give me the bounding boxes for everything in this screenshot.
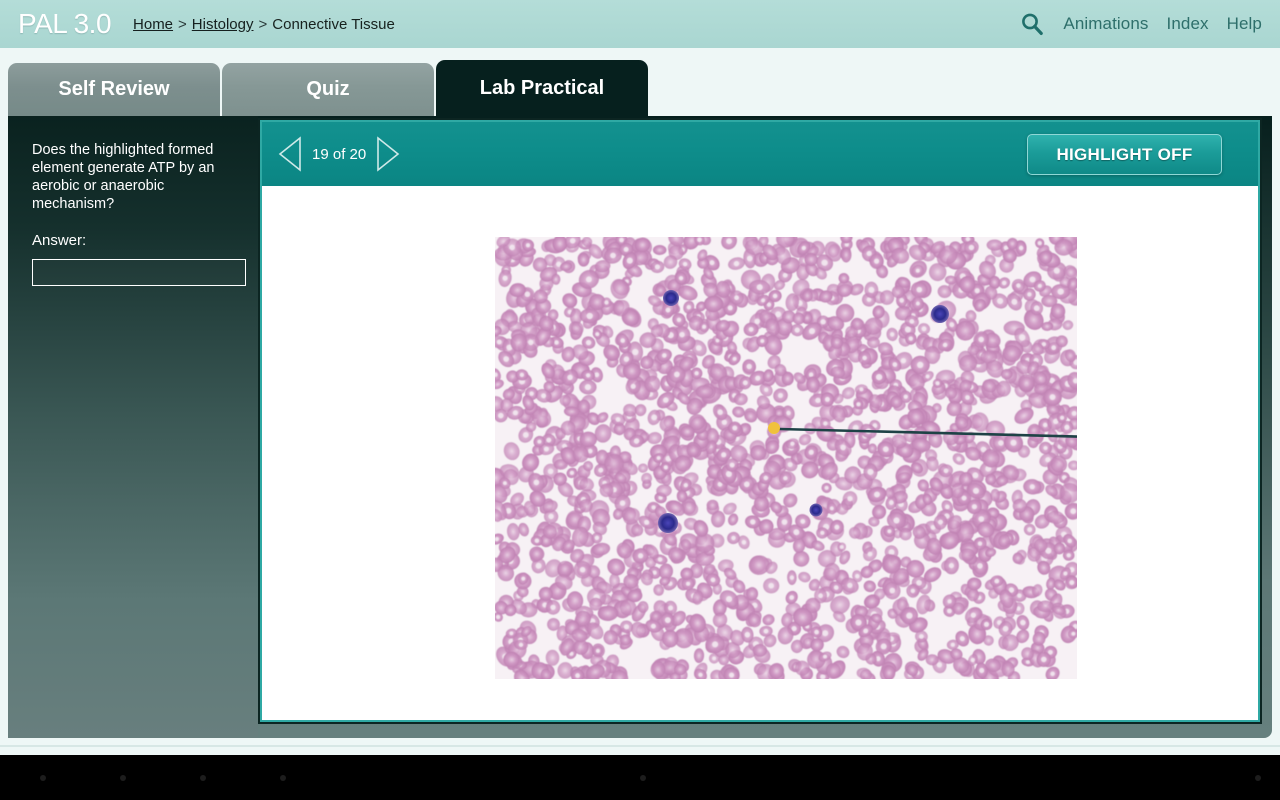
highlight-toggle-label: HIGHLIGHT OFF: [1056, 145, 1192, 165]
tab-self-review-label: Self Review: [58, 78, 169, 101]
application-root: PAL 3.0 Home > Histology > Connective Ti…: [0, 0, 1280, 800]
taskbar-dot-1[interactable]: [40, 775, 46, 781]
search-icon[interactable]: [1019, 11, 1045, 37]
taskbar-dot-3[interactable]: [200, 775, 206, 781]
tab-lab-practical-label: Lab Practical: [480, 77, 605, 100]
breadcrumb-separator-2: >: [259, 16, 268, 33]
tab-quiz[interactable]: Quiz: [222, 63, 434, 116]
chevron-left-icon[interactable]: [276, 135, 304, 173]
tab-bar: Self Review Quiz Lab Practical: [0, 48, 1280, 116]
breadcrumb-current: Connective Tissue: [272, 16, 395, 33]
nav-link-help[interactable]: Help: [1227, 14, 1262, 34]
breadcrumb-home[interactable]: Home: [133, 16, 173, 33]
tab-lab-practical[interactable]: Lab Practical: [436, 60, 648, 116]
highlight-toggle-button[interactable]: HIGHLIGHT OFF: [1027, 134, 1222, 175]
header-actions: Animations Index Help: [1019, 11, 1262, 37]
question-text: Does the highlighted formed element gene…: [32, 142, 234, 214]
window-bottom-divider: [0, 745, 1280, 747]
app-header: PAL 3.0 Home > Histology > Connective Ti…: [0, 0, 1280, 48]
practical-toolbar: 19 of 20 HIGHLIGHT OFF: [262, 122, 1258, 186]
taskbar-dot-6[interactable]: [1255, 775, 1261, 781]
micrograph-container: [495, 237, 1077, 679]
chevron-right-icon[interactable]: [374, 135, 402, 173]
blood-smear-micrograph[interactable]: [495, 237, 1077, 679]
breadcrumb-histology[interactable]: Histology: [192, 16, 254, 33]
taskbar-dot-2[interactable]: [120, 775, 126, 781]
breadcrumb: Home > Histology > Connective Tissue: [133, 16, 395, 33]
taskbar-dot-4[interactable]: [280, 775, 286, 781]
question-sidebar: Does the highlighted formed element gene…: [8, 116, 258, 738]
item-counter: 19 of 20: [312, 146, 366, 163]
answer-input[interactable]: [32, 259, 246, 286]
app-logo: PAL 3.0: [18, 8, 111, 40]
main-content-panel: 19 of 20 HIGHLIGHT OFF: [258, 118, 1262, 724]
answer-label: Answer:: [32, 232, 234, 249]
nav-link-index[interactable]: Index: [1167, 14, 1209, 34]
tab-self-review[interactable]: Self Review: [8, 63, 220, 116]
tab-quiz-label: Quiz: [306, 78, 349, 101]
nav-link-animations[interactable]: Animations: [1063, 14, 1148, 34]
taskbar-dot-5[interactable]: [640, 775, 646, 781]
breadcrumb-separator-1: >: [178, 16, 187, 33]
